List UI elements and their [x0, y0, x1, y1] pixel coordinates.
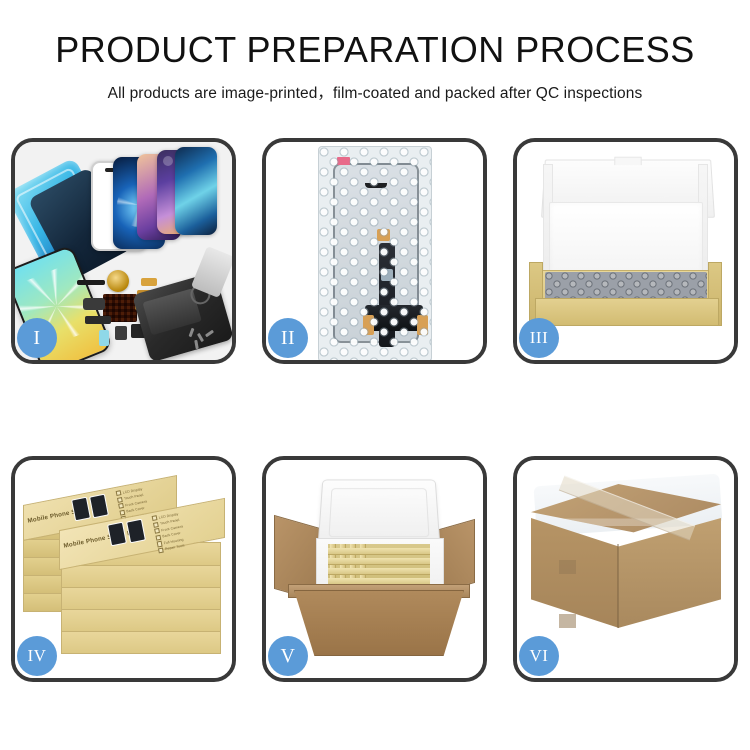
carton-corner-seam-icon	[617, 544, 619, 628]
process-step-panel-iv[interactable]: Mobile Phone Spare Parts LCD Display Tou…	[11, 456, 236, 682]
checkbox-icon	[154, 528, 160, 534]
process-step-panel-v[interactable]: V	[262, 456, 487, 682]
speaker-coil-icon	[107, 270, 129, 292]
retail-box-front-4	[61, 608, 221, 632]
camera-module-part-icon	[83, 298, 105, 310]
carton-handle-tab-top-icon	[559, 560, 576, 574]
checkbox-icon	[119, 509, 125, 515]
retail-box-front-3	[61, 586, 221, 610]
retail-box-front-2	[61, 564, 221, 588]
sim-tray-part-icon	[99, 330, 109, 346]
bubble-texture-icon	[319, 147, 431, 360]
process-steps-grid: I	[11, 138, 739, 682]
earpiece-part-icon	[77, 280, 105, 285]
checkbox-icon	[116, 490, 122, 496]
retail-box-stack-icon: Mobile Phone Spare Parts LCD Display Tou…	[21, 474, 229, 670]
step-badge-i: I	[17, 318, 57, 358]
checkbox-icon	[118, 503, 124, 509]
retail-box-front-5	[61, 630, 221, 654]
page-title: PRODUCT PREPARATION PROCESS	[0, 32, 750, 68]
flex-cable-part-icon	[141, 278, 157, 286]
page-subtitle: All products are image-printed，film-coat…	[0, 81, 750, 103]
carton-front-wall-icon	[294, 590, 464, 656]
checkbox-icon	[157, 541, 163, 547]
step-badge-vi: VI	[519, 636, 559, 676]
process-step-panel-ii[interactable]: II	[262, 138, 487, 364]
carton-right-face-icon	[618, 518, 721, 628]
white-foam-sheet-icon	[549, 202, 703, 278]
checkbox-icon	[152, 515, 158, 521]
carton-handle-tab-bottom-icon	[559, 614, 576, 628]
step-badge-iii: III	[519, 318, 559, 358]
box-front-wall-icon	[535, 298, 719, 326]
checkbox-icon	[155, 534, 161, 540]
bubble-wrap-bag-icon	[318, 146, 432, 360]
vibrator-part-icon	[115, 326, 127, 340]
phone-screen-wave-icon	[175, 147, 217, 235]
screws-icon	[190, 328, 218, 350]
step-badge-iv: IV	[17, 636, 57, 676]
grey-bubble-wrap-icon	[545, 272, 707, 300]
product-preparation-process-page: PRODUCT PREPARATION PROCESS All products…	[0, 0, 750, 750]
checkbox-icon	[158, 547, 164, 553]
step-badge-ii: II	[268, 318, 308, 358]
checkbox-icon	[153, 522, 159, 528]
antenna-part-icon	[85, 316, 111, 324]
process-step-panel-vi[interactable]: VI	[513, 456, 738, 682]
checkbox-icon	[117, 497, 123, 503]
process-step-panel-iii[interactable]: III	[513, 138, 738, 364]
page-header: PRODUCT PREPARATION PROCESS All products…	[0, 0, 750, 103]
step-badge-v: V	[268, 636, 308, 676]
process-step-panel-i[interactable]: I	[11, 138, 236, 364]
